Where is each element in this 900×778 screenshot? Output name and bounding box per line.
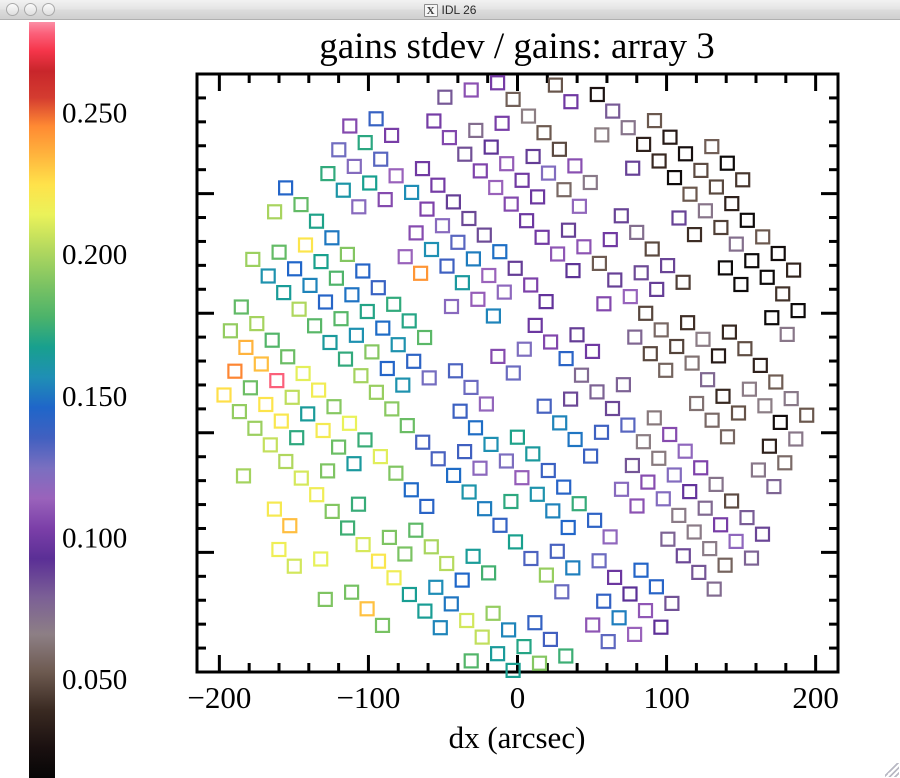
data-point-marker [725,197,738,210]
data-point-marker [604,233,617,246]
data-point-marker [321,167,334,180]
data-point-marker [372,281,385,294]
data-point-marker [310,488,323,501]
colorbar-tick-label: 0.250 [62,98,127,130]
data-point-marker [345,586,358,599]
data-point-marker [769,376,782,389]
resize-grip-icon[interactable] [885,763,899,777]
data-point-marker [673,212,686,225]
data-point-marker [416,162,429,175]
data-point-marker [273,246,286,259]
data-point-marker [650,283,663,296]
data-point-marker [500,157,513,170]
data-point-marker [374,450,387,463]
data-point-marker [721,430,734,443]
data-point-marker [301,407,314,420]
data-point-marker [272,543,285,556]
data-point-marker [551,545,564,558]
data-point-marker [352,200,365,213]
data-point-marker [621,419,634,432]
data-point-marker [544,633,557,646]
plot-svg: 0.0500.1000.1500.2000.250 gains stdev / … [0,20,900,778]
data-point-marker [697,333,710,346]
data-point-marker [308,319,321,332]
data-point-marker [418,605,431,618]
data-point-marker [562,224,575,237]
data-point-marker [255,358,268,371]
data-point-marker [290,431,303,444]
data-point-marker [432,452,445,465]
data-point-marker [250,317,263,330]
data-point-marker [482,566,495,579]
data-point-marker [544,336,557,349]
data-point-marker [314,553,327,566]
data-point-marker [754,359,767,372]
data-point-marker [359,136,372,149]
data-point-marker [295,198,308,211]
data-point-marker [478,502,491,515]
data-point-marker [650,580,663,593]
data-point-marker [237,469,250,482]
data-point-marker [692,566,705,579]
data-point-marker [262,270,275,283]
data-point-marker [767,480,780,493]
data-point-marker [624,588,637,601]
data-point-marker [246,253,259,266]
data-point-marker [615,483,628,496]
data-point-marker [745,254,758,267]
data-point-marker [688,228,701,241]
data-point-marker [800,409,813,422]
data-point-marker [622,121,635,134]
data-point-marker [591,88,604,101]
data-point-marker [507,93,520,106]
data-point-marker [664,131,677,144]
data-point-marker [398,548,411,561]
data-point-marker [714,221,727,234]
data-point-marker [635,266,648,279]
data-point-marker [478,229,491,242]
data-point-marker [717,390,730,403]
data-point-marker [283,519,296,532]
data-point-marker [458,148,471,161]
data-point-marker [410,226,423,239]
data-point-marker [743,383,756,396]
data-point-marker [259,398,272,411]
data-point-marker [524,552,537,565]
data-point-marker [575,369,588,382]
data-point-marker [602,635,615,648]
colorbar-tick-label: 0.200 [62,239,127,271]
data-point-marker [505,198,518,211]
data-point-marker [792,304,805,317]
data-point-marker [385,129,398,142]
data-point-marker [423,371,436,384]
data-point-marker [690,397,703,410]
data-point-marker [626,459,639,472]
data-point-marker [266,334,279,347]
data-point-marker [654,621,667,634]
data-point-marker [443,131,456,144]
plot-canvas: 0.0500.1000.1500.2000.250 gains stdev / … [0,20,900,778]
window-titlebar[interactable]: X IDL 26 [0,0,900,20]
data-point-marker [467,252,480,265]
data-point-marker [703,542,716,555]
x-axis-tick-label: −100 [336,680,400,715]
data-point-marker [509,262,522,275]
colorbar-tick-label: 0.150 [62,381,127,413]
data-point-marker [509,535,522,548]
data-point-marker [454,405,467,418]
data-point-marker [732,407,745,420]
data-point-marker [288,560,301,573]
data-point-marker [293,303,306,316]
data-point-marker [515,471,528,484]
data-point-marker [688,526,701,539]
data-point-marker [487,310,500,323]
data-point-marker [359,433,372,446]
data-point-marker [248,422,261,435]
data-point-marker [498,286,511,299]
data-point-marker [451,236,464,249]
data-point-marker [617,378,630,391]
data-point-marker [496,117,509,130]
data-point-marker [268,205,281,218]
data-point-marker [557,481,570,494]
data-point-marker [734,278,747,291]
data-point-marker [288,262,301,275]
data-point-marker [279,181,292,194]
data-point-marker [781,328,794,341]
data-point-marker [409,524,422,537]
data-point-marker [474,462,487,475]
data-point-marker [388,571,401,584]
data-point-marker [584,176,597,189]
data-point-marker [465,84,478,97]
plot-frame [197,74,838,672]
data-point-marker [350,329,363,342]
data-point-marker [299,239,312,252]
data-point-marker [420,500,433,513]
data-point-marker [593,554,606,567]
data-point-marker [560,352,573,365]
data-point-marker [699,204,712,217]
data-point-marker [736,173,749,186]
data-point-marker [644,347,657,360]
data-point-marker [244,381,257,394]
data-points [218,76,814,677]
data-point-marker [425,243,438,256]
data-point-marker [531,488,544,501]
data-point-marker [275,415,288,428]
data-point-marker [723,326,736,339]
x-axis-label: dx (arcsec) [449,720,586,755]
data-point-marker [631,500,644,513]
data-point-marker [286,391,299,404]
data-point-marker [356,265,369,278]
data-point-marker [522,110,535,123]
data-point-marker [628,331,641,344]
data-point-marker [465,654,478,667]
data-point-marker [337,184,350,197]
x-axis-tick-labels: −200−1000100200 [187,680,839,715]
data-point-marker [573,200,586,213]
data-point-marker [665,597,678,610]
data-point-marker [626,162,639,175]
data-point-marker [542,464,555,477]
data-point-marker [586,345,599,358]
data-point-marker [661,533,674,546]
data-point-marker [429,581,442,594]
data-point-marker [343,120,356,133]
data-point-marker [389,467,402,480]
data-point-marker [686,357,699,370]
data-point-marker [562,521,575,534]
data-point-marker [374,153,387,166]
data-point-marker [491,647,504,660]
data-point-marker [264,438,277,451]
data-point-marker [361,305,374,318]
data-point-marker [639,604,652,617]
data-point-marker [752,464,765,477]
data-point-marker [348,160,361,173]
data-point-marker [502,623,515,636]
data-point-marker [372,555,385,568]
data-point-marker [458,445,471,458]
data-point-marker [471,293,484,306]
data-point-marker [559,650,572,663]
data-point-marker [549,79,562,92]
data-point-marker [608,274,621,287]
data-point-marker [597,297,610,310]
data-point-marker [608,571,621,584]
data-point-marker [352,498,365,511]
data-point-marker [528,616,541,629]
data-point-marker [606,105,619,118]
data-point-marker [317,424,330,437]
data-point-marker [310,215,323,228]
data-point-marker [379,193,392,206]
data-point-marker [494,519,507,532]
colorbar-tick-label: 0.100 [62,522,127,554]
data-point-marker [677,276,690,289]
data-point-marker [648,411,661,424]
data-point-marker [392,338,405,351]
data-point-marker [672,509,685,522]
data-point-marker [399,250,412,263]
data-point-marker [460,614,473,627]
data-point-marker [447,469,460,482]
data-point-marker [328,400,341,413]
data-point-marker [383,531,396,544]
data-point-marker [595,128,608,141]
data-point-marker [706,414,719,427]
data-point-marker [268,503,281,516]
data-point-marker [312,384,325,397]
data-point-marker [553,416,566,429]
data-point-marker [414,267,427,280]
window-title: IDL 26 [442,3,477,17]
data-point-marker [558,183,571,196]
data-point-marker [637,435,650,448]
data-point-marker [487,607,500,620]
data-point-marker [741,511,754,524]
data-point-marker [668,469,681,482]
data-point-marker [438,91,451,104]
data-point-marker [239,341,252,354]
data-point-marker [635,564,648,577]
data-point-marker [774,416,787,429]
data-point-marker [465,381,478,394]
data-point-marker [741,214,754,227]
data-point-marker [441,260,454,273]
data-point-marker [324,336,337,349]
data-point-marker [361,602,374,615]
data-point-marker [385,402,398,415]
data-point-marker [224,324,237,337]
axis-ticks [197,74,838,672]
data-point-marker [730,238,743,251]
data-point-marker [445,597,458,610]
x-axis-tick-label: 200 [792,680,839,715]
data-point-marker [564,393,577,406]
data-point-marker [683,485,696,498]
data-point-marker [365,345,378,358]
data-point-marker [341,248,354,261]
data-point-marker [332,143,345,156]
data-point-marker [456,276,469,289]
data-point-marker [536,231,549,244]
data-point-marker [655,323,668,336]
data-point-marker [553,143,566,156]
data-point-marker [710,478,723,491]
data-point-marker [646,243,659,256]
data-point-marker [725,495,738,508]
data-point-marker [756,528,769,541]
data-point-marker [745,552,758,565]
data-point-marker [604,530,617,543]
data-point-marker [476,631,489,644]
data-point-marker [447,195,460,208]
data-point-marker [491,76,504,89]
data-point-marker [710,181,723,194]
data-point-marker [712,349,725,362]
data-point-marker [639,307,652,320]
data-point-marker [584,450,597,463]
data-point-marker [341,522,354,535]
data-point-marker [489,181,502,194]
data-point-marker [421,203,434,216]
data-point-marker [354,369,367,382]
data-point-marker [233,405,246,418]
data-point-marker [390,169,403,182]
data-point-marker [730,535,743,548]
data-point-marker [555,585,568,598]
data-point-marker [469,124,482,137]
colorbar [29,22,55,778]
data-point-marker [485,141,498,154]
data-point-marker [526,447,539,460]
data-point-marker [776,287,789,300]
idl-plot-window: X IDL 26 0.0500.1000.1500.2000.250 gains… [0,0,900,778]
data-point-marker [456,574,469,587]
data-point-marker [407,355,420,368]
data-point-marker [571,328,584,341]
data-point-marker [577,240,590,253]
x-axis-tick-label: 100 [643,680,690,715]
data-point-marker [277,286,290,299]
data-point-marker [480,398,493,411]
x11-icon: X [424,4,438,17]
data-point-marker [315,255,328,268]
data-point-marker [586,619,599,632]
data-point-marker [628,628,641,641]
data-point-marker [679,445,692,458]
data-point-marker [595,426,608,439]
data-point-marker [761,271,774,284]
data-point-marker [403,588,416,601]
data-point-marker [270,374,283,387]
data-point-marker [606,402,619,415]
data-point-marker [648,114,661,127]
data-point-marker [370,386,383,399]
data-point-marker [425,540,438,553]
data-point-marker [569,433,582,446]
data-point-marker [332,441,345,454]
data-point-marker [474,164,487,177]
data-point-marker [319,593,332,606]
data-point-marker [694,164,707,177]
data-point-marker [772,247,785,260]
data-point-marker [591,385,604,398]
data-point-marker [431,179,444,192]
data-point-marker [613,611,626,624]
data-point-marker [524,279,537,292]
data-point-marker [297,367,310,380]
data-point-marker [401,419,414,432]
data-point-marker [694,461,707,474]
data-point-marker [719,261,732,274]
data-point-marker [529,319,542,332]
data-point-marker [376,322,389,335]
data-point-marker [568,159,581,172]
data-point-marker [670,340,683,353]
data-point-marker [348,457,361,470]
data-point-marker [403,314,416,327]
data-point-marker [491,350,504,363]
data-point-marker [500,455,513,468]
data-point-marker [511,431,524,444]
data-point-marker [416,436,429,449]
data-point-marker [765,311,778,324]
data-point-marker [405,483,418,496]
data-point-marker [440,557,453,570]
data-point-marker [531,190,544,203]
data-point-marker [469,421,482,434]
data-point-marker [218,389,231,402]
data-point-marker [699,502,712,515]
data-point-marker [677,549,690,562]
data-point-marker [330,272,343,285]
data-point-marker [527,150,540,163]
data-point-marker [659,364,672,377]
data-point-marker [533,657,546,670]
data-point-marker [624,290,637,303]
data-point-marker [657,492,670,505]
data-point-marker [679,147,692,160]
data-point-marker [335,312,348,325]
data-point-marker [758,399,771,412]
